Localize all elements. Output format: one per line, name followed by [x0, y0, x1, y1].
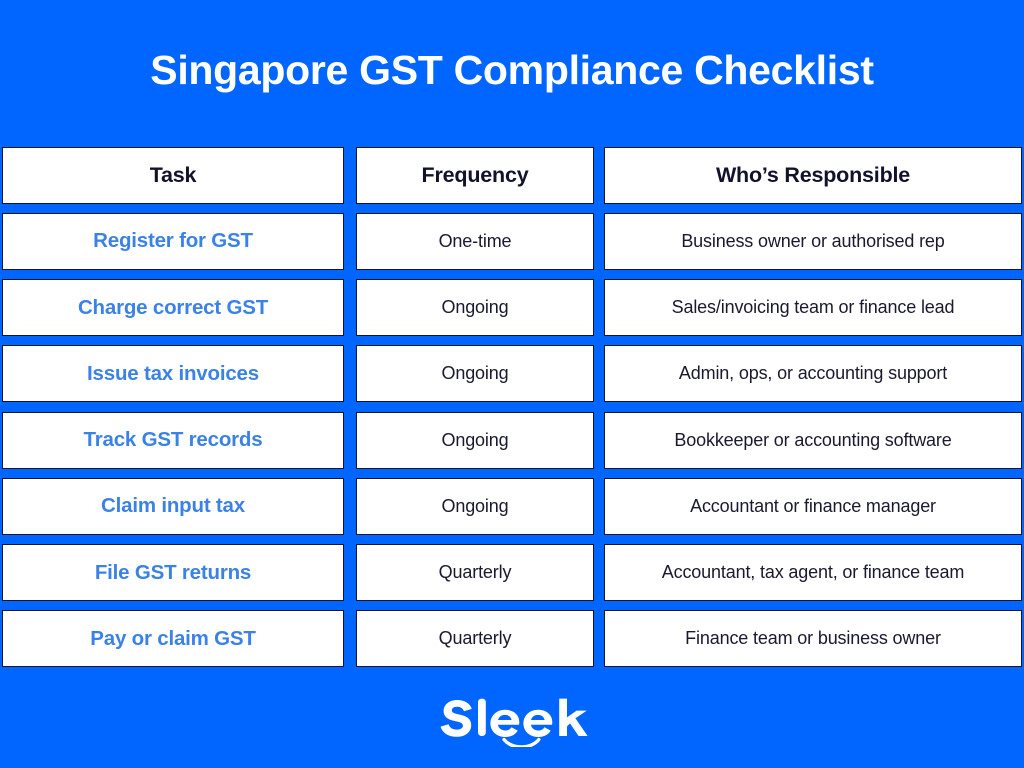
cell-responsible: Business owner or authorised rep — [604, 213, 1022, 270]
cell-task: Pay or claim GST — [2, 610, 344, 667]
task-label: File GST returns — [95, 561, 251, 585]
cell-responsible: Accountant or finance manager — [604, 478, 1022, 535]
cell-responsible: Finance team or business owner — [604, 610, 1022, 667]
table-row: File GST returns Quarterly Accountant, t… — [2, 540, 1022, 606]
cell-task: Charge correct GST — [2, 279, 344, 336]
column-gap — [594, 142, 604, 208]
table-row: Claim input tax Ongoing Accountant or fi… — [2, 473, 1022, 539]
table-row: Register for GST One-time Business owner… — [2, 208, 1022, 274]
task-label: Issue tax invoices — [87, 362, 259, 386]
table-header-row: Task Frequency Who’s Responsible — [2, 142, 1022, 208]
column-gap — [344, 473, 356, 539]
responsible-label: Admin, ops, or accounting support — [679, 363, 947, 384]
frequency-label: Ongoing — [441, 297, 508, 318]
cell-responsible: Accountant, tax agent, or finance team — [604, 544, 1022, 601]
column-gap — [594, 341, 604, 407]
frequency-label: Quarterly — [439, 628, 512, 649]
page-title: Singapore GST Compliance Checklist — [150, 48, 873, 93]
column-gap — [344, 275, 356, 341]
cell-frequency: Ongoing — [356, 279, 594, 336]
responsible-label: Accountant or finance manager — [690, 496, 936, 517]
table-row: Issue tax invoices Ongoing Admin, ops, o… — [2, 341, 1022, 407]
checklist-infographic: Singapore GST Compliance Checklist Task … — [0, 0, 1024, 768]
frequency-label: Ongoing — [441, 430, 508, 451]
column-header-responsible-label: Who’s Responsible — [716, 163, 910, 188]
gst-compliance-table: Task Frequency Who’s Responsible Registe… — [2, 142, 1022, 672]
task-label: Claim input tax — [101, 494, 245, 518]
frequency-label: One-time — [439, 231, 512, 252]
column-header-frequency: Frequency — [356, 147, 594, 204]
column-gap — [344, 208, 356, 274]
cell-task: Issue tax invoices — [2, 345, 344, 402]
cell-task: Track GST records — [2, 412, 344, 469]
cell-frequency: One-time — [356, 213, 594, 270]
task-label: Pay or claim GST — [90, 627, 255, 651]
cell-responsible: Sales/invoicing team or finance lead — [604, 279, 1022, 336]
column-header-task: Task — [2, 147, 344, 204]
responsible-label: Business owner or authorised rep — [681, 231, 944, 252]
column-gap — [594, 275, 604, 341]
table-row: Pay or claim GST Quarterly Finance team … — [2, 606, 1022, 672]
column-gap — [344, 142, 356, 208]
task-label: Track GST records — [84, 428, 263, 452]
task-label: Charge correct GST — [78, 296, 268, 320]
column-gap — [594, 407, 604, 473]
sleek-logo — [436, 693, 588, 747]
cell-frequency: Quarterly — [356, 610, 594, 667]
cell-frequency: Quarterly — [356, 544, 594, 601]
frequency-label: Ongoing — [441, 363, 508, 384]
cell-task: Register for GST — [2, 213, 344, 270]
column-gap — [594, 473, 604, 539]
column-gap — [344, 540, 356, 606]
column-gap — [344, 341, 356, 407]
frequency-label: Ongoing — [441, 496, 508, 517]
column-header-frequency-label: Frequency — [422, 163, 529, 188]
column-gap — [344, 407, 356, 473]
task-label: Register for GST — [93, 229, 253, 253]
column-gap — [344, 606, 356, 672]
column-gap — [594, 606, 604, 672]
sleek-smiley-wordmark-icon — [436, 693, 588, 747]
responsible-label: Accountant, tax agent, or finance team — [662, 562, 965, 583]
table-row: Charge correct GST Ongoing Sales/invoici… — [2, 275, 1022, 341]
column-gap — [594, 540, 604, 606]
title-bar: Singapore GST Compliance Checklist — [0, 0, 1024, 142]
responsible-label: Bookkeeper or accounting software — [674, 430, 951, 451]
frequency-label: Quarterly — [439, 562, 512, 583]
column-header-responsible: Who’s Responsible — [604, 147, 1022, 204]
cell-frequency: Ongoing — [356, 345, 594, 402]
cell-task: Claim input tax — [2, 478, 344, 535]
column-header-task-label: Task — [150, 163, 197, 188]
responsible-label: Finance team or business owner — [685, 628, 941, 649]
cell-frequency: Ongoing — [356, 478, 594, 535]
responsible-label: Sales/invoicing team or finance lead — [672, 297, 955, 318]
cell-responsible: Bookkeeper or accounting software — [604, 412, 1022, 469]
cell-responsible: Admin, ops, or accounting support — [604, 345, 1022, 402]
table-row: Track GST records Ongoing Bookkeeper or … — [2, 407, 1022, 473]
column-gap — [594, 208, 604, 274]
cell-frequency: Ongoing — [356, 412, 594, 469]
footer — [0, 672, 1024, 768]
cell-task: File GST returns — [2, 544, 344, 601]
